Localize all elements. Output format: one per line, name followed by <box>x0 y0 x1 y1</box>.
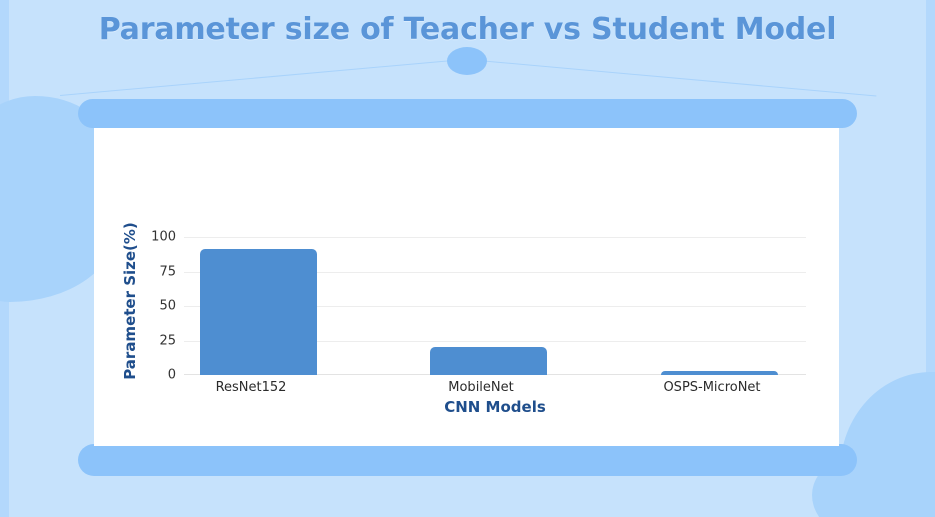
x-tick-label-osps-micronet: OSPS-MicroNet <box>617 380 807 395</box>
decorative-ray-left <box>60 59 459 96</box>
y-tick-label-50: 50 <box>159 299 176 314</box>
right-edge-shade <box>926 0 935 517</box>
x-tick-label-mobilenet: MobileNet <box>386 380 576 395</box>
gridline-100 <box>184 237 806 238</box>
left-edge-shade <box>0 0 9 517</box>
bar-chart: Parameter Size(%) 100 75 50 25 0 ResNet1… <box>94 128 839 446</box>
y-tick-label-100: 100 <box>151 230 176 245</box>
y-tick-label-75: 75 <box>159 264 176 279</box>
slide-title: Parameter size of Teacher vs Student Mod… <box>0 12 935 47</box>
bar-resnet152[interactable] <box>200 249 317 375</box>
x-axis-label: CNN Models <box>184 398 806 416</box>
bar-mobilenet[interactable] <box>430 347 547 375</box>
y-axis-label: Parameter Size(%) <box>121 221 139 381</box>
chart-card: Parameter Size(%) 100 75 50 25 0 ResNet1… <box>94 128 839 446</box>
decorative-circle <box>447 47 487 75</box>
plot-area: 100 75 50 25 0 ResNet152 MobileNet OSPS-… <box>184 237 806 375</box>
x-tick-label-resnet152: ResNet152 <box>156 380 346 395</box>
card-top-bar <box>78 99 857 128</box>
decorative-blob-right <box>840 372 935 517</box>
y-tick-label-25: 25 <box>159 333 176 348</box>
slide-canvas: Parameter size of Teacher vs Student Mod… <box>0 0 935 517</box>
decorative-ray-right <box>478 60 877 97</box>
bar-osps-micronet[interactable] <box>661 371 778 375</box>
card-bottom-bar <box>78 444 857 476</box>
